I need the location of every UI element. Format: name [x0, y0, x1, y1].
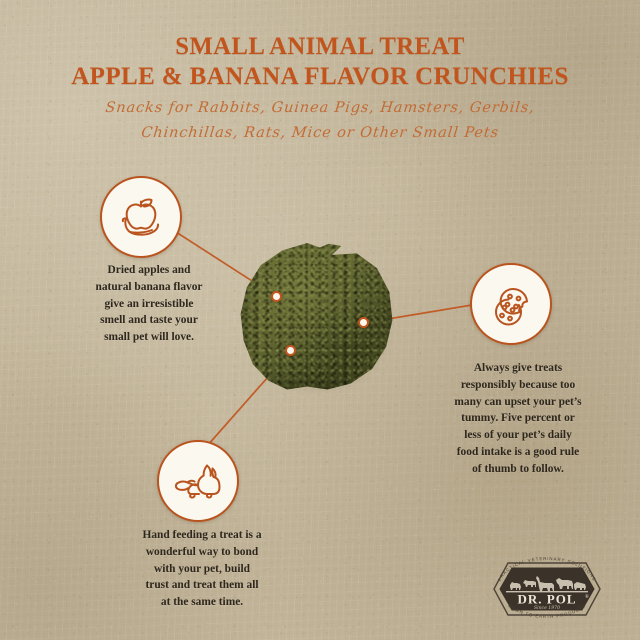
cookie-chip: [511, 308, 515, 312]
callout-line: many can upset your pet’s: [432, 394, 604, 411]
product-infographic: SMALL ANIMAL TREAT APPLE & BANANA FLAVOR…: [0, 0, 640, 640]
apple-body: [127, 205, 156, 229]
rabbit-ear-left: [204, 466, 207, 476]
hotspot-bonding[interactable]: [285, 345, 296, 356]
callout-line: with your pet, build: [110, 561, 294, 578]
callout-line: small pet will love.: [58, 329, 240, 346]
hand-finger: [187, 481, 194, 483]
callout-text-flavor: Dried apples and natural banana flavor g…: [58, 262, 240, 346]
cookie-chip: [503, 306, 507, 310]
dr-pol-logo[interactable]: DR. POL ® Since 1970 PRACTICAL VETERINAR…: [488, 556, 606, 622]
callout-line: wonderful way to bond: [110, 544, 294, 561]
hand-thumb: [176, 484, 189, 490]
callout-line: natural banana flavor: [58, 279, 240, 296]
callout-line: at the same time.: [110, 594, 294, 611]
rabbit-ear-left-inner: [207, 466, 211, 476]
cookie-chip: [508, 295, 512, 299]
callout-line: food intake is a good rule: [432, 444, 604, 461]
callout-text-moderation: Always give treats responsibly because t…: [432, 360, 604, 477]
callout-line: trust and treat them all: [110, 577, 294, 594]
callout-text-bonding: Hand feeding a treat is a wonderful way …: [110, 527, 294, 611]
product-body: [239, 243, 394, 391]
logo-brand-text: DR. POL: [518, 592, 577, 607]
cookie-chip: [514, 305, 518, 309]
callout-line: of thumb to follow.: [432, 461, 604, 478]
callout-line: responsibly because too: [432, 377, 604, 394]
callout-line: less of your pet’s daily: [432, 427, 604, 444]
hotspot-moderation[interactable]: [358, 317, 369, 328]
banana-inner-line: [130, 230, 152, 233]
logo-trademark-mark: ®: [585, 594, 589, 600]
callout-line: Hand feeding a treat is a: [110, 527, 294, 544]
logo-since-text: Since 1970: [534, 605, 560, 611]
hand-feeding-rabbit-icon[interactable]: [157, 440, 239, 522]
callout-line: give an irresistible: [58, 296, 240, 313]
cookies-icon[interactable]: [470, 263, 552, 345]
rabbit-head-body: [198, 476, 220, 495]
product-image: [239, 243, 394, 391]
cookie-chip: [508, 317, 512, 321]
callout-line: smell and taste your: [58, 312, 240, 329]
callout-line: Dried apples and: [58, 262, 240, 279]
callout-line: Always give treats: [432, 360, 604, 377]
cookie-chip: [517, 297, 521, 301]
cookie-chip: [500, 314, 504, 318]
callout-line: tummy. Five percent or: [432, 410, 604, 427]
apple-banana-icon[interactable]: [100, 176, 182, 258]
hotspot-flavor[interactable]: [271, 291, 282, 302]
